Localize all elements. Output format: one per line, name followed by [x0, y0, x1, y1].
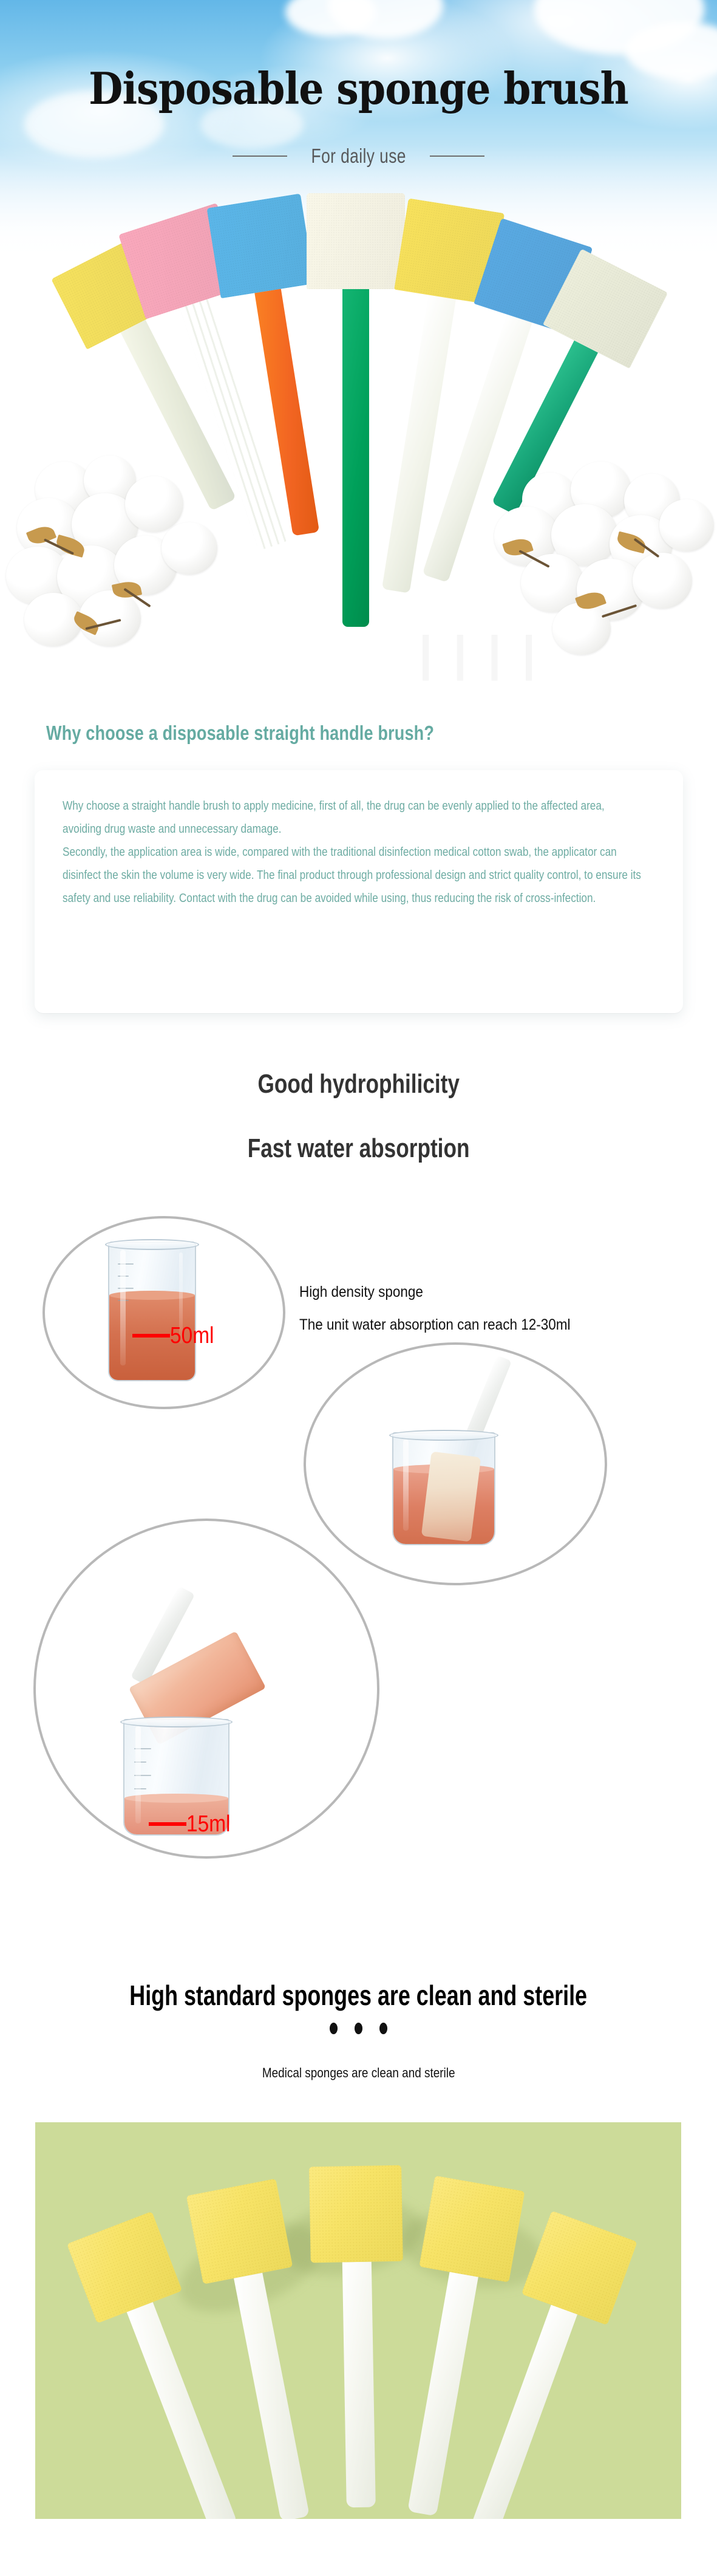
why-choose-paragraph-1: Why choose a straight handle brush to ap…: [63, 794, 644, 841]
bullet-high-density: High density sponge: [299, 1276, 660, 1308]
separator-dot: [379, 2023, 387, 2034]
page-title: Disposable sponge brush: [36, 67, 681, 111]
sterile-subheading: Medical sponges are clean and sterile: [0, 2065, 717, 2081]
bullet-absorption: The unit water absorption can reach 12-3…: [299, 1308, 660, 1341]
rule-left: [233, 155, 287, 157]
cotton-cluster-right: [480, 462, 716, 656]
why-choose-section: Why choose a disposable straight handle …: [0, 717, 717, 1033]
sterile-subheading-text: Medical sponges are clean and sterile: [262, 2065, 455, 2081]
brush-handle: [342, 2262, 376, 2508]
sponge-head: [419, 2176, 525, 2283]
glass-highlight: [135, 1726, 141, 1823]
cotton-boll: [552, 603, 611, 655]
hero-subtitle-group: For daily use: [0, 145, 717, 168]
brush-handle: [234, 2273, 310, 2519]
cup-rim: [389, 1430, 498, 1441]
sterile-heading-text: High standard sponges are clean and ster…: [130, 1979, 588, 2012]
sponge-head: [522, 2211, 637, 2325]
glass-highlight: [403, 1440, 409, 1531]
hydrophilicity-heading-1: Good hydrophilicity: [0, 1069, 717, 1099]
photo-soaked-sponge-15ml: 15ml: [33, 1519, 398, 1883]
label-15ml: 15ml: [149, 1812, 236, 1836]
hero-subtitle: For daily use: [311, 145, 406, 168]
label-leader-line: [132, 1334, 170, 1338]
sponge-head: [207, 194, 315, 299]
cotton-boll: [161, 522, 217, 575]
label-leader-line: [149, 1822, 186, 1826]
sponge-head: [67, 2212, 182, 2323]
why-choose-heading: Why choose a disposable straight handle …: [46, 722, 434, 745]
why-choose-body: Why choose a straight handle brush to ap…: [63, 794, 645, 910]
measuring-cup: [392, 1432, 495, 1545]
sponge-head: [186, 2179, 293, 2284]
hydrophilicity-heading-1-text: Good hydrophilicity: [257, 1069, 459, 1099]
glass-highlight: [120, 1250, 126, 1365]
cotton-cluster-left: [6, 456, 249, 656]
sponge-head: [307, 193, 405, 289]
cotton-boll: [633, 553, 692, 609]
cotton-boll: [659, 499, 714, 552]
rule-right: [430, 155, 484, 157]
beaker-body: [108, 1242, 196, 1381]
measuring-beaker: [108, 1242, 196, 1381]
separator-dot: [355, 2023, 362, 2034]
hydrophilicity-heading-2-text: Fast water absorption: [248, 1133, 470, 1164]
separator-dot: [330, 2023, 338, 2034]
sponge-head: [309, 2165, 403, 2263]
hydrophilicity-heading-2: Fast water absorption: [0, 1133, 717, 1164]
beaker-rim: [105, 1239, 199, 1250]
cotton-boll: [125, 476, 183, 532]
green-product-photo: [35, 2122, 681, 2519]
sterile-heading: High standard sponges are clean and ster…: [0, 1979, 717, 2012]
cup-rim: [120, 1717, 233, 1727]
hydrophilicity-bullets: High density sponge The unit water absor…: [299, 1276, 700, 1341]
product-hero-image: | | | |: [0, 200, 717, 692]
why-choose-paragraph-2: Secondly, the application area is wide, …: [63, 841, 644, 910]
dot-separator: [0, 2023, 717, 2034]
cup-body: [392, 1432, 495, 1545]
label-50ml-text: 50ml: [170, 1324, 214, 1347]
label-15ml-text: 15ml: [186, 1812, 230, 1836]
photo-beaker-50ml: 50ml: [42, 1216, 297, 1423]
label-50ml: 50ml: [132, 1324, 220, 1347]
soaked-sponge: [421, 1452, 481, 1542]
